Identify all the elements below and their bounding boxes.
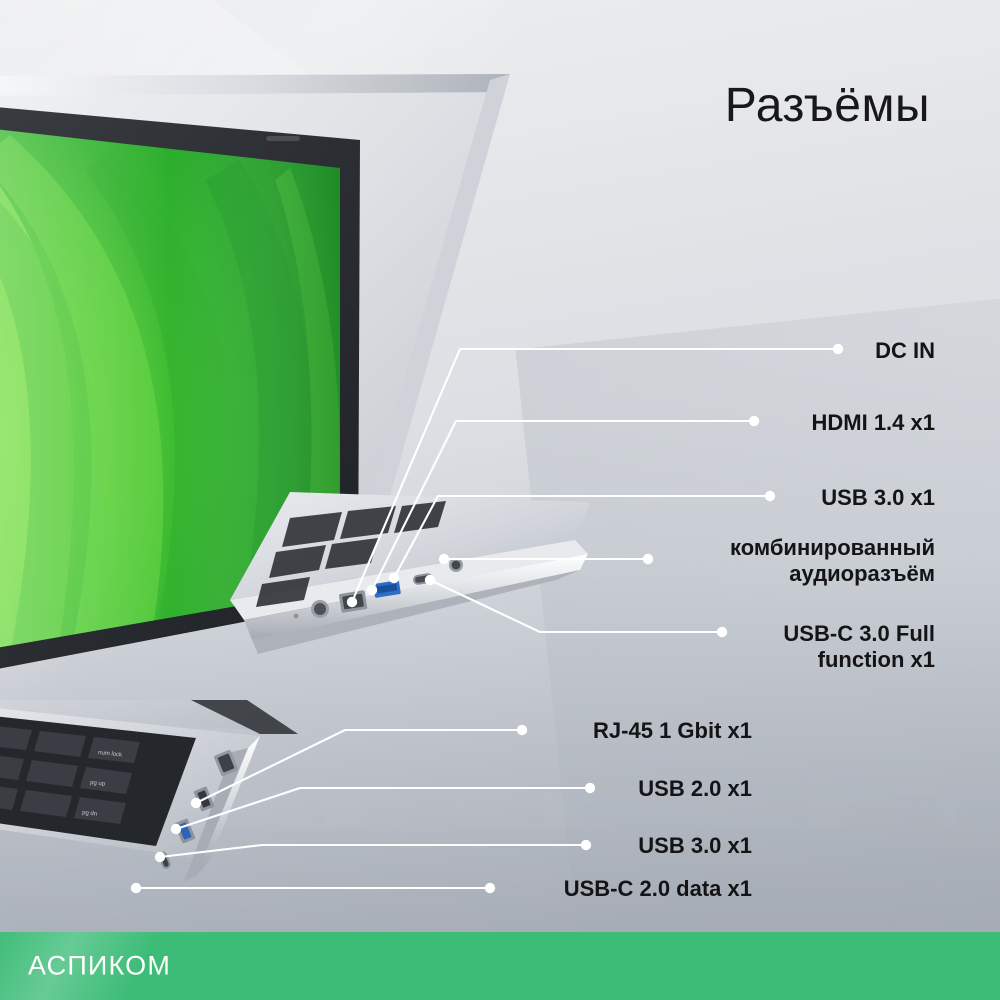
- callout-usb30-lower: USB 3.0 x1: [638, 833, 752, 859]
- leader-usb30-upper: [394, 496, 770, 578]
- callout-dc-in: DC IN: [875, 338, 935, 364]
- poster-canvas: num lock pg up pg dn del: [0, 0, 1000, 1000]
- leader-hdmi: [372, 421, 754, 590]
- callout-usb20: USB 2.0 x1: [638, 776, 752, 802]
- callout-combo-audio: комбинированный аудиоразъём: [730, 535, 935, 586]
- callout-usbc20-data: USB-C 2.0 data x1: [564, 876, 752, 902]
- callout-usbc30-full-function: USB-C 3.0 Full function x1: [783, 621, 935, 672]
- footer-bar: АСПИКОМ: [0, 932, 1000, 1000]
- leader-usb20: [176, 788, 590, 829]
- callout-rj45: RJ-45 1 Gbit x1: [593, 718, 752, 744]
- leader-origin-dots: [131, 554, 449, 893]
- leader-rj45: [196, 730, 522, 803]
- leader-usb30-lower: [160, 845, 586, 857]
- callout-usb30-upper: USB 3.0 x1: [821, 485, 935, 511]
- brand-name: АСПИКОМ: [28, 951, 171, 982]
- page-title: Разъёмы: [725, 78, 930, 133]
- callout-hdmi: HDMI 1.4 x1: [812, 410, 936, 436]
- leader-endpoint-dots: [485, 344, 843, 893]
- leader-usbc30: [430, 580, 722, 632]
